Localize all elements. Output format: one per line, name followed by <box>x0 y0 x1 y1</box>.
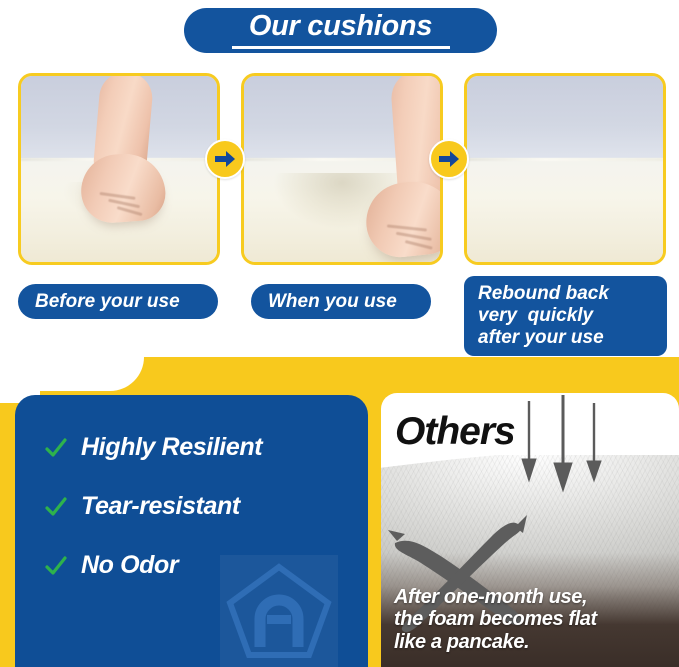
photo-after-rebound <box>467 76 663 262</box>
feature-label-2: Tear-resistant <box>81 492 240 521</box>
step-photo-panel-1 <box>18 73 220 265</box>
others-panel: Others <box>381 393 679 667</box>
check-icon <box>45 496 67 518</box>
step-caption-3-line-3: after your use <box>478 327 604 349</box>
feature-label-3: No Odor <box>81 551 178 580</box>
feature-list: Highly Resilient Tear-resistant No Odor <box>45 433 262 580</box>
step-caption-3: Rebound back very quickly after your use <box>464 276 667 356</box>
page-title-pill: Our cushions <box>184 8 497 53</box>
step-caption-1: Before your use <box>18 284 218 319</box>
check-icon <box>45 437 67 459</box>
others-title: Others <box>395 410 515 454</box>
arrow-down-icon <box>554 395 572 491</box>
step-photo-panel-2 <box>241 73 443 265</box>
step-caption-2: When you use <box>251 284 431 319</box>
arrow-right-icon <box>214 150 236 168</box>
title-underline <box>232 46 450 49</box>
arrow-right-badge-1 <box>205 139 245 179</box>
others-caption-line-3: like a pancake. <box>394 631 597 654</box>
check-icon <box>45 555 67 577</box>
step-caption-3-line-2: very quickly <box>478 305 593 327</box>
others-caption-line-2: the foam becomes flat <box>394 608 597 631</box>
photo-background <box>467 76 663 158</box>
others-caption-line-1: After one-month use, <box>394 586 597 609</box>
feature-item-1: Highly Resilient <box>45 433 262 462</box>
arrow-down-icon <box>522 401 536 481</box>
step-photo-panel-3 <box>464 73 666 265</box>
others-caption: After one-month use, the foam becomes fl… <box>394 586 597 654</box>
photo-when-using <box>244 76 440 262</box>
arrow-right-badge-2 <box>429 139 469 179</box>
feature-item-3: No Odor <box>45 551 262 580</box>
infographic-page: Our cushions <box>0 0 679 667</box>
step-caption-3-line-1: Rebound back <box>478 283 609 305</box>
page-title: Our cushions <box>249 12 432 43</box>
foam-block <box>467 158 663 262</box>
feature-item-2: Tear-resistant <box>45 492 262 521</box>
arrow-right-icon <box>438 150 460 168</box>
yellow-section-notch <box>0 357 144 391</box>
foam-edge <box>467 158 663 161</box>
arrow-down-icon <box>587 403 601 481</box>
feature-label-1: Highly Resilient <box>81 433 262 462</box>
features-panel: Highly Resilient Tear-resistant No Odor <box>15 395 368 667</box>
photo-before-use <box>21 76 217 262</box>
